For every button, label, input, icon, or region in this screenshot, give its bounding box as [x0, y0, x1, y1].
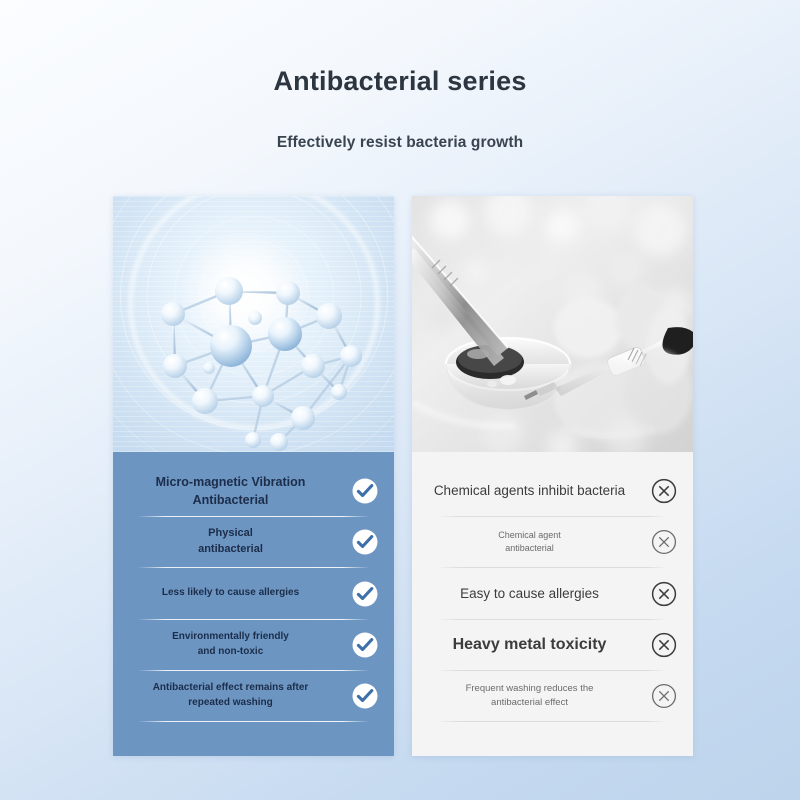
list-item: Environmentally friendlyand non-toxic: [113, 620, 394, 670]
list-item: Micro-magnetic VibrationAntibacterial: [113, 466, 394, 516]
list-item-label: Environmentally friendlyand non-toxic: [172, 630, 289, 659]
check-circle-icon: [332, 632, 378, 658]
list-item-label: Heavy metal toxicity: [453, 633, 607, 656]
list-item-label: Micro-magnetic VibrationAntibacterial: [156, 473, 306, 509]
list-item: Less likely to cause allergies: [113, 568, 394, 618]
comparison-panels: Micro-magnetic VibrationAntibacterial Ph…: [113, 196, 693, 756]
list-item-label: Frequent washing reduces theantibacteria…: [466, 682, 594, 710]
check-circle-icon: [332, 683, 378, 709]
list-item: Heavy metal toxicity: [412, 620, 693, 670]
page-subtitle: Effectively resist bacteria growth: [0, 134, 800, 152]
check-circle-icon: [332, 581, 378, 607]
list-item-label: Easy to cause allergies: [460, 584, 599, 604]
molecule-diagram: [113, 196, 394, 452]
list-item-label: Chemical agentantibacterial: [498, 529, 561, 555]
page-header: Antibacterial series Effectively resist …: [0, 0, 800, 152]
check-circle-icon: [332, 478, 378, 504]
list-item: Chemical agentantibacterial: [412, 517, 693, 567]
list-item: Physicalantibacterial: [113, 517, 394, 567]
right-panel-chemical-agents: Chemical agents inhibit bacteria Chemica…: [412, 196, 693, 756]
left-panel-micro-magnetic: Micro-magnetic VibrationAntibacterial Ph…: [113, 196, 394, 756]
list-item: Easy to cause allergies: [412, 568, 693, 618]
molecule-network-image: [113, 196, 394, 452]
list-item-label: Antibacterial effect remains afterrepeat…: [153, 681, 309, 710]
cross-circle-icon: [631, 478, 677, 504]
check-circle-icon: [332, 529, 378, 555]
lab-photo-illustration: [412, 196, 693, 452]
cross-circle-icon: [631, 529, 677, 555]
list-item: Antibacterial effect remains afterrepeat…: [113, 671, 394, 721]
cross-circle-icon: [631, 581, 677, 607]
list-item-label: Less likely to cause allergies: [162, 586, 299, 601]
laboratory-pipette-image: [412, 196, 693, 452]
list-item: Chemical agents inhibit bacteria: [412, 466, 693, 516]
list-item: Frequent washing reduces theantibacteria…: [412, 671, 693, 721]
list-item-label: Chemical agents inhibit bacteria: [434, 481, 625, 501]
page-title: Antibacterial series: [0, 66, 800, 97]
cross-circle-icon: [631, 632, 677, 658]
cross-circle-icon: [631, 683, 677, 709]
list-item-label: Physicalantibacterial: [198, 526, 263, 558]
left-panel-list: Micro-magnetic VibrationAntibacterial Ph…: [113, 452, 394, 756]
right-panel-list: Chemical agents inhibit bacteria Chemica…: [412, 452, 693, 756]
